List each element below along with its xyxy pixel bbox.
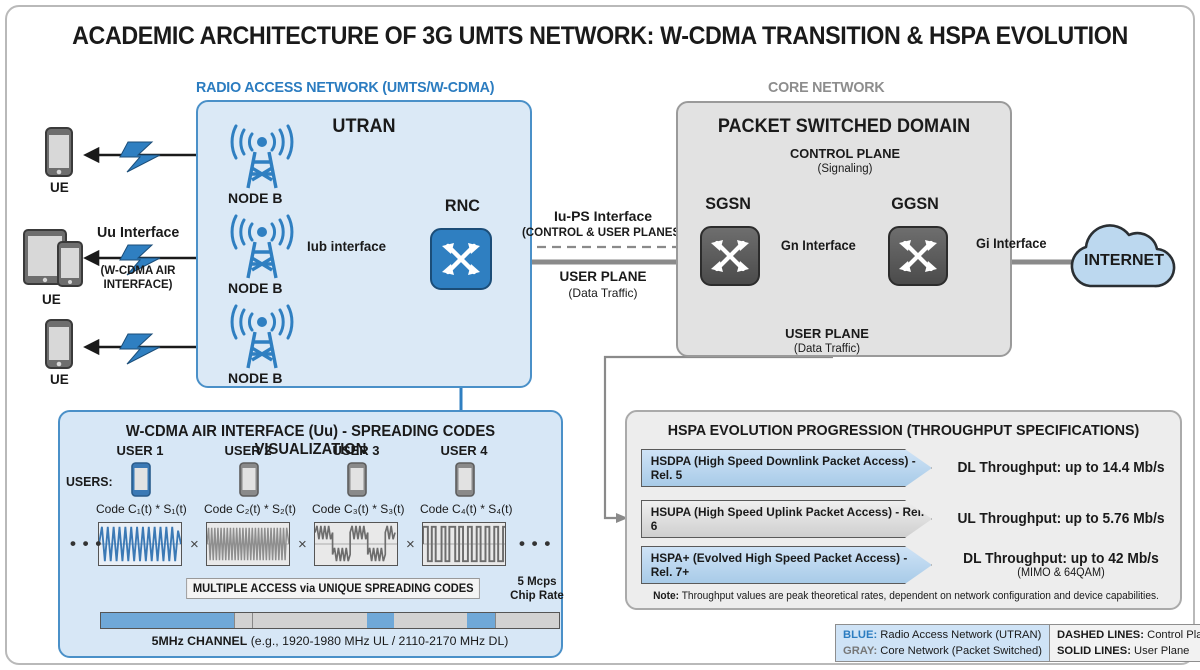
ggsn-node[interactable] — [888, 226, 948, 286]
ue-label-2: UE — [42, 292, 61, 307]
multiple-access-label: MULTIPLE ACCESS via UNIQUE SPREADING COD… — [186, 578, 480, 599]
legend-blue-bold: BLUE: — [843, 629, 877, 641]
control-plane-title: CONTROL PLANE — [745, 146, 945, 161]
iups-interface-sub: (CONTROL & USER PLANES) — [508, 226, 698, 239]
sgsn-node[interactable] — [700, 226, 760, 286]
internet-label: INTERNET — [1062, 252, 1186, 270]
hspa-note-bold: Note: — [653, 590, 679, 602]
sgsn-label: SGSN — [705, 194, 751, 214]
channel-seg-gray-1 — [234, 613, 252, 628]
legend-color-cell: BLUE: Radio Access Network (UTRAN) GRAY:… — [836, 625, 1050, 661]
iups-user-plane-sub: (Data Traffic) — [523, 286, 683, 300]
node-b-label-3: NODE B — [228, 370, 282, 386]
switch-icon — [890, 228, 946, 284]
user-1-phone-icon — [130, 462, 152, 498]
legend-solid-text: User Plane — [1131, 645, 1189, 657]
hspaplus-throughput: DL Throughput: up to 42 Mb/s (MIMO & 64Q… — [953, 546, 1169, 584]
switch-icon — [702, 228, 758, 284]
users-label: USERS: — [66, 474, 113, 489]
hsupa-throughput-main: UL Throughput: up to 5.76 Mb/s — [957, 511, 1164, 527]
ellipsis-left: • • • — [70, 534, 102, 554]
legend-dashed-bold: DASHED LINES: — [1057, 629, 1144, 641]
channel-label-rest: (e.g., 1920-1980 MHz UL / 2110-2170 MHz … — [247, 634, 508, 648]
user-2-label: USER 2 — [208, 443, 288, 458]
rnc-label: RNC — [445, 196, 480, 216]
hsdpa-throughput: DL Throughput: up to 14.4 Mb/s — [953, 449, 1169, 487]
user-1-label: USER 1 — [100, 443, 180, 458]
hspaplus-throughput-main: DL Throughput: up to 42 Mb/s — [963, 551, 1159, 567]
node-b-tower-2 — [222, 208, 302, 280]
control-plane-sub: (Signaling) — [765, 163, 925, 175]
ue-label-3: UE — [50, 372, 69, 387]
hspa-note-text: Throughput values are peak theoretical r… — [679, 590, 1159, 602]
user-3-phone-icon — [346, 462, 368, 498]
chip-rate-line2: Chip Rate — [505, 590, 569, 602]
hsupa-throughput: UL Throughput: up to 5.76 Mb/s — [953, 500, 1169, 538]
user-2-waveform — [206, 522, 290, 566]
hspa-row-hsdpa[interactable]: HSDPA (High Speed Downlink Packet Access… — [641, 449, 1169, 487]
legend-gray-bold: GRAY: — [843, 645, 877, 657]
channel-seg-blue-1 — [101, 613, 234, 628]
legend-solid-row: SOLID LINES: User Plane — [1057, 644, 1200, 660]
hspa-note: Note: Throughput values are peak theoret… — [652, 590, 1161, 602]
user-4-label: USER 4 — [424, 443, 504, 458]
hspa-row-hspaplus[interactable]: HSPA+ (Evolved High Speed Packet Access)… — [641, 546, 1169, 584]
node-b-tower-3 — [222, 298, 302, 370]
ps-domain-header: PACKET SWITCHED DOMAIN — [686, 116, 1001, 138]
uu-interface-title: Uu Interface — [97, 224, 179, 241]
panel-hspa-evolution: HSPA EVOLUTION PROGRESSION (THROUGHPUT S… — [625, 410, 1182, 610]
hsdpa-chevron-label: HSDPA (High Speed Downlink Packet Access… — [641, 449, 932, 487]
legend-line-cell: DASHED LINES: Control Plane SOLID LINES:… — [1050, 625, 1200, 661]
hspaplus-chevron-label: HSPA+ (Evolved High Speed Packet Access)… — [641, 546, 932, 584]
node-b-label-1: NODE B — [228, 190, 282, 206]
channel-seg-gray-2 — [252, 613, 367, 628]
switch-icon — [432, 230, 490, 288]
channel-seg-gray-3 — [394, 613, 467, 628]
channel-label: 5MHz CHANNEL (e.g., 1920-1980 MHz UL / 2… — [100, 634, 560, 648]
user-3-label: USER 3 — [316, 443, 396, 458]
user-4-code: Code C₄(t) * S₄(t) — [420, 502, 508, 516]
user-1-code: Code C₁(t) * S₁(t) — [96, 502, 184, 516]
legend-dashed-row: DASHED LINES: Control Plane — [1057, 628, 1200, 644]
uu-interface-sub2: INTERFACE) — [83, 279, 193, 291]
chip-rate-line1: 5 Mcps — [510, 576, 564, 588]
user-2-code: Code C₂(t) * S₂(t) — [204, 502, 292, 516]
multiply-symbol-1: × — [190, 536, 199, 553]
user-2-phone-icon — [238, 462, 260, 498]
iups-interface-title: Iu-PS Interface — [513, 208, 693, 224]
channel-seg-blue-3 — [467, 613, 494, 628]
ue-label-1: UE — [50, 180, 69, 195]
hsdpa-throughput-main: DL Throughput: up to 14.4 Mb/s — [957, 460, 1164, 476]
legend-solid-bold: SOLID LINES: — [1057, 645, 1131, 657]
node-b-label-2: NODE B — [228, 280, 282, 296]
channel-seg-gray-4 — [495, 613, 559, 628]
user-4-phone-icon — [454, 462, 476, 498]
user-1-waveform — [98, 522, 182, 566]
core-user-plane-title: USER PLANE — [752, 326, 902, 341]
hspa-header: HSPA EVOLUTION PROGRESSION (THROUGHPUT S… — [641, 422, 1166, 439]
channel-seg-blue-2 — [367, 613, 394, 628]
legend-blue-text: Radio Access Network (UTRAN) — [877, 629, 1041, 641]
user-3-code: Code C₃(t) * S₃(t) — [312, 502, 400, 516]
ggsn-label: GGSN — [891, 194, 939, 214]
hspa-row-hsupa[interactable]: HSUPA (High Speed Uplink Packet Access) … — [641, 500, 1169, 538]
user-3-waveform — [314, 522, 398, 566]
hspaplus-throughput-note: (MIMO & 64QAM) — [1017, 567, 1104, 579]
gi-interface-label: Gi Interface — [976, 236, 1047, 251]
iups-user-plane-title: USER PLANE — [523, 269, 683, 284]
ellipsis-right: • • • — [519, 534, 551, 554]
legend-blue-row: BLUE: Radio Access Network (UTRAN) — [843, 628, 1042, 644]
rnc-node[interactable] — [430, 228, 492, 290]
iub-interface-label: Iub interface — [307, 238, 386, 254]
legend-dashed-text: Control Plane — [1144, 629, 1200, 641]
hsupa-chevron-label: HSUPA (High Speed Uplink Packet Access) … — [641, 500, 932, 538]
legend-gray-row: GRAY: Core Network (Packet Switched) — [843, 644, 1042, 660]
multiply-symbol-3: × — [406, 536, 415, 553]
channel-bar — [100, 612, 560, 629]
user-4-waveform — [422, 522, 506, 566]
multiply-symbol-2: × — [298, 536, 307, 553]
legend-gray-text: Core Network (Packet Switched) — [877, 645, 1042, 657]
gn-interface-label: Gn Interface — [779, 238, 858, 253]
channel-label-bold: 5MHz CHANNEL — [152, 634, 248, 648]
node-b-tower-1 — [222, 118, 302, 190]
legend: BLUE: Radio Access Network (UTRAN) GRAY:… — [835, 624, 1200, 662]
uu-interface-sub1: (W-CDMA AIR — [83, 265, 193, 277]
core-user-plane-sub: (Data Traffic) — [752, 343, 902, 355]
